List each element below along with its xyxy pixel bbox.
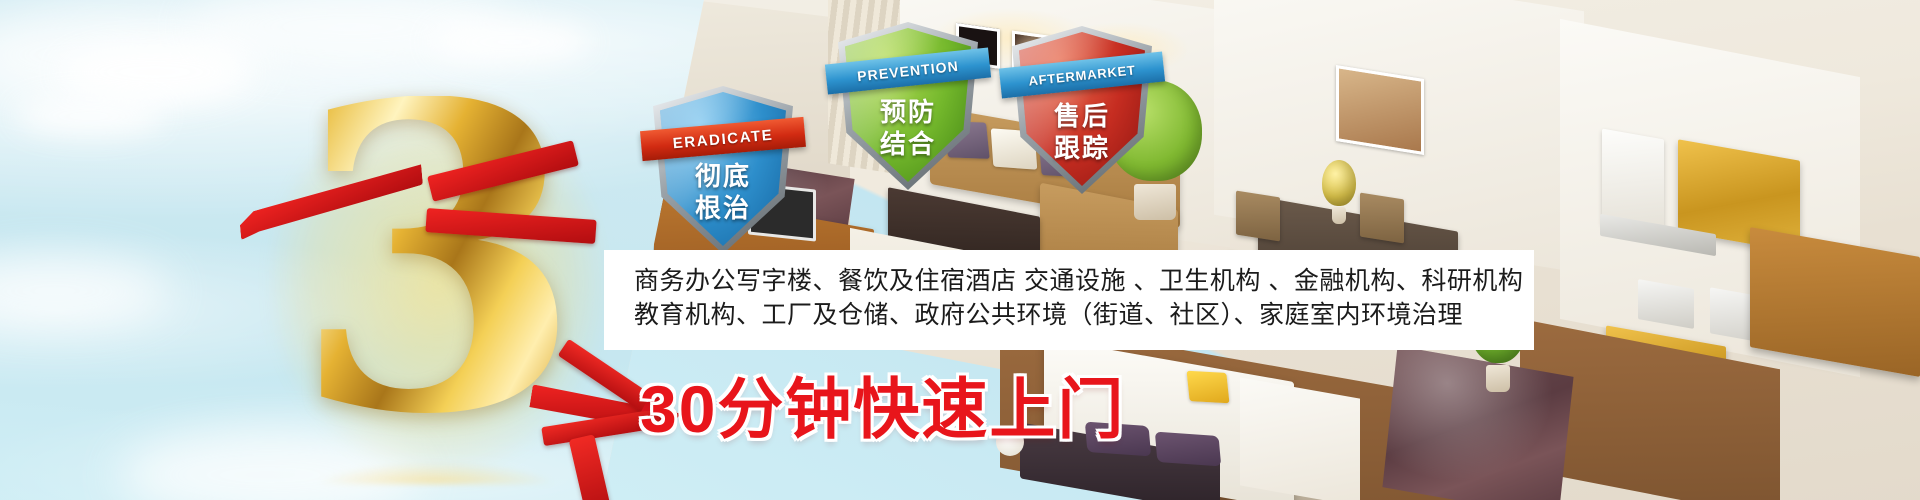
flowers bbox=[1322, 160, 1356, 206]
table-flowers bbox=[1322, 160, 1356, 224]
wall-panel bbox=[1240, 377, 1360, 500]
shield-label: 彻底 根治 bbox=[653, 160, 793, 224]
plant-pot bbox=[1486, 365, 1511, 392]
cloud-shape bbox=[14, 96, 164, 136]
vase bbox=[1332, 207, 1347, 224]
cushion bbox=[1187, 371, 1230, 403]
shield-label-top: 售后 bbox=[1012, 100, 1152, 132]
dining-chair bbox=[1236, 191, 1280, 242]
service-line: 商务办公写字楼、餐饮及住宿酒店 交通设施 、卫生机构 、金融机构、科研机构 bbox=[604, 250, 1534, 298]
framed-portrait bbox=[1336, 65, 1424, 155]
shield-label-bottom: 根治 bbox=[653, 192, 793, 224]
shield-label-bottom: 结合 bbox=[838, 128, 978, 160]
shield-badge-prevention: PREVENTION 预防 结合 bbox=[838, 22, 978, 190]
service-line: 教育机构、工厂及仓储、政府公共环境（街道、社区）、家庭室内环境治理 bbox=[604, 298, 1534, 332]
shield-label: 售后 跟踪 bbox=[1012, 100, 1152, 164]
ribbon-segment bbox=[569, 434, 614, 500]
shield-label-top: 彻底 bbox=[653, 160, 793, 192]
headline-text: 30分钟快速上门 bbox=[640, 356, 1125, 452]
promo-banner: 3 ERADICATE 彻底 根治 PREVENTION 预防 结合 bbox=[0, 0, 1920, 500]
shield-label-top: 预防 bbox=[838, 96, 978, 128]
service-scope-panel: 商务办公写字楼、餐饮及住宿酒店 交通设施 、卫生机构 、金融机构、科研机构 教育… bbox=[604, 250, 1534, 350]
sparkle-dust bbox=[316, 462, 556, 484]
shield-label: 预防 结合 bbox=[838, 96, 978, 160]
pillow bbox=[1155, 432, 1221, 467]
shield-badge-aftermarket: AFTERMARKET 售后 跟踪 bbox=[1012, 26, 1152, 194]
dining-chair bbox=[1360, 193, 1404, 244]
shield-label-bottom: 跟踪 bbox=[1012, 132, 1152, 164]
shield-badge-eradicate: ERADICATE 彻底 根治 bbox=[653, 86, 793, 254]
